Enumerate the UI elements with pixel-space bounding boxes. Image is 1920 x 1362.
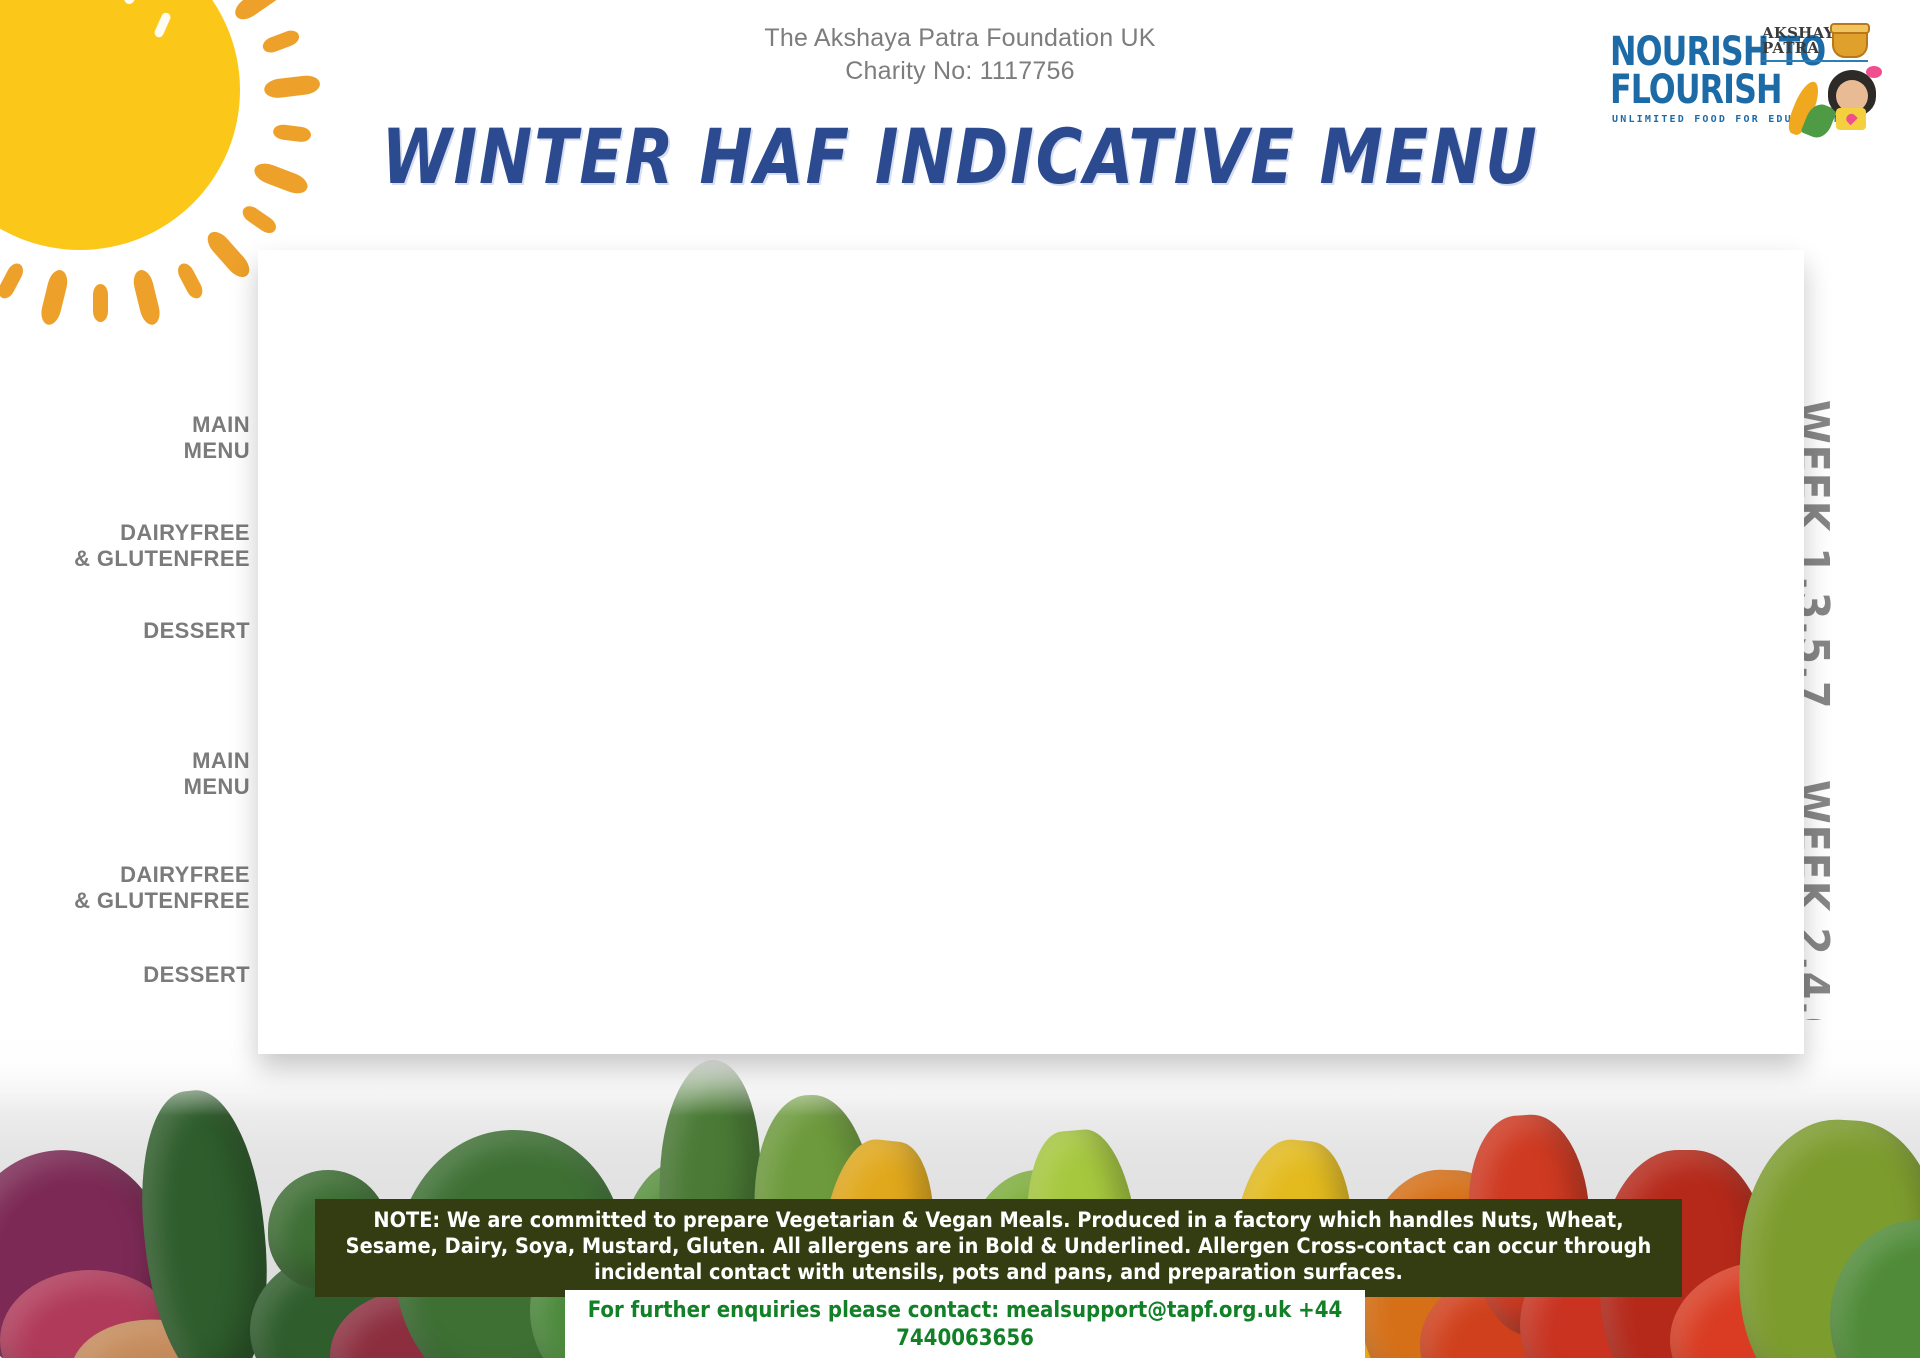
row-label-line2: MENU bbox=[0, 774, 250, 800]
sun-ray-icon bbox=[130, 268, 162, 327]
logo-line-2: FLOURISH bbox=[1610, 70, 1782, 110]
pot-icon bbox=[1832, 26, 1868, 58]
sun-ray-icon bbox=[93, 284, 108, 322]
row-label-line1: DAIRYFREE bbox=[0, 862, 250, 888]
row-label-line1: DESSERT bbox=[0, 962, 250, 988]
row-label-line1: MAIN bbox=[0, 412, 250, 438]
logo-divider bbox=[1762, 60, 1868, 62]
sun-ray-icon bbox=[174, 261, 205, 302]
row-label-line2: & GLUTENFREE bbox=[0, 888, 250, 914]
contact-line: For further enquiries please contact: me… bbox=[565, 1290, 1365, 1362]
row-label-week2-1: DAIRYFREE& GLUTENFREE bbox=[0, 862, 250, 914]
row-label-week1-0: MAINMENU bbox=[0, 412, 250, 464]
row-label-week1-2: DESSERT bbox=[0, 618, 250, 644]
sun-ray-icon bbox=[230, 0, 287, 24]
row-label-week2-2: DESSERT bbox=[0, 962, 250, 988]
row-label-line1: DESSERT bbox=[0, 618, 250, 644]
sun-ray-icon bbox=[202, 227, 253, 282]
akshaya-patra-mark-line2: PATRA bbox=[1762, 39, 1819, 57]
sun-ray-icon bbox=[239, 203, 279, 237]
row-label-line2: & GLUTENFREE bbox=[0, 546, 250, 572]
nourish-to-flourish-logo: NOURISH TO FLOURISH UNLIMITED FOOD FOR E… bbox=[1610, 24, 1868, 132]
row-label-line1: DAIRYFREE bbox=[0, 520, 250, 546]
menu-card bbox=[258, 250, 1804, 1054]
row-label-week2-0: MAINMENU bbox=[0, 748, 250, 800]
sun-ray-icon bbox=[38, 268, 70, 327]
girl-bow-icon bbox=[1866, 66, 1882, 78]
allergen-note: NOTE: We are committed to prepare Vegeta… bbox=[315, 1199, 1682, 1297]
row-label-line2: MENU bbox=[0, 438, 250, 464]
page-title: WINTER HAF INDICATIVE MENU bbox=[67, 114, 1853, 200]
row-label-line1: MAIN bbox=[0, 748, 250, 774]
sun-ray-icon bbox=[0, 261, 26, 302]
row-label-week1-1: DAIRYFREE& GLUTENFREE bbox=[0, 520, 250, 572]
akshaya-patra-mark: AKSHAYA PATRA bbox=[1762, 26, 1828, 56]
